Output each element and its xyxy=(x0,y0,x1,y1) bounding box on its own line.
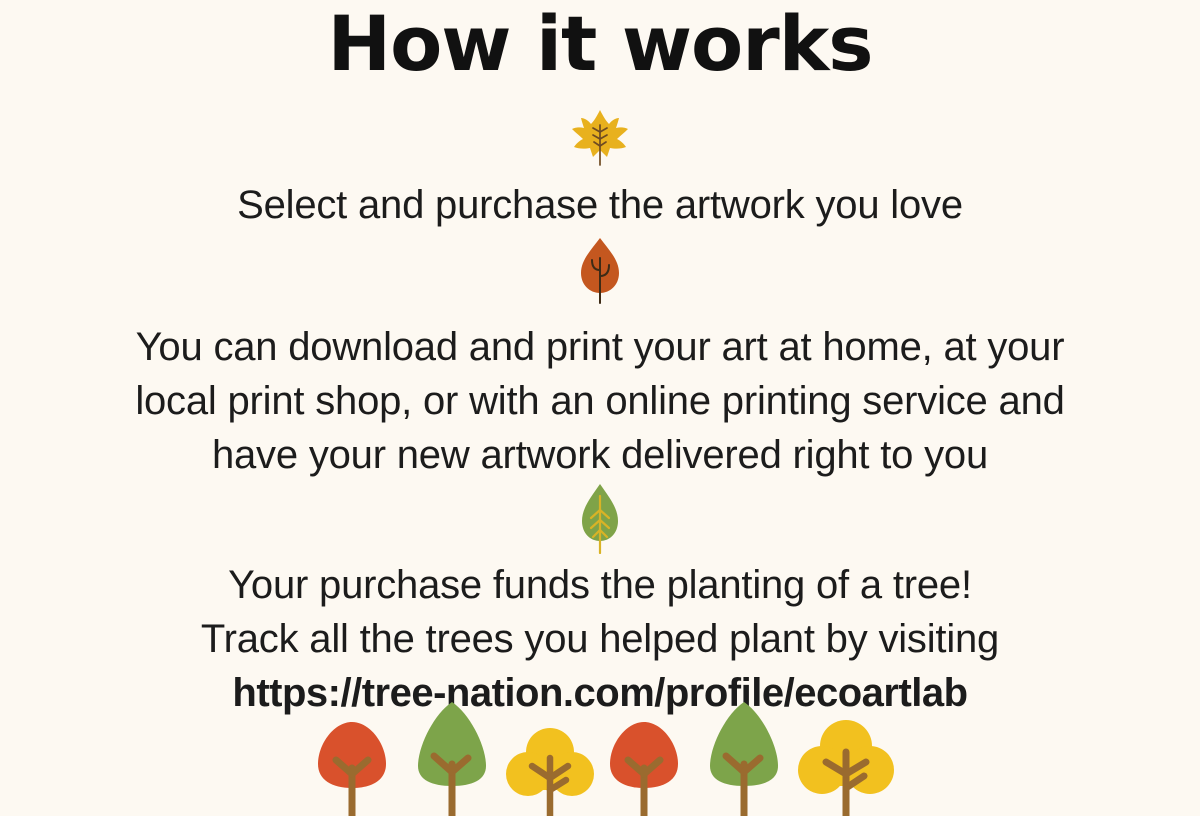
tree-green-tall xyxy=(400,698,504,816)
maple-leaf-divider xyxy=(0,108,1200,166)
tree-red-round-2 xyxy=(596,712,692,816)
step-print-line-3: have your new artwork delivered right to… xyxy=(0,428,1200,482)
orange-leaf-icon xyxy=(575,236,625,304)
step-select-line-1: Select and purchase the artwork you love xyxy=(0,178,1200,232)
step-print-text: You can download and print your art at h… xyxy=(0,320,1200,482)
green-leaf-icon xyxy=(576,482,624,554)
step-tree-text: Your purchase funds the planting of a tr… xyxy=(0,558,1200,720)
tree-green-tall-2 xyxy=(692,698,796,816)
maple-leaf-icon xyxy=(569,108,631,166)
green-leaf-divider xyxy=(0,482,1200,554)
tree-row-decoration xyxy=(0,706,1200,816)
page-title: How it works xyxy=(0,6,1200,82)
step-select-text: Select and purchase the artwork you love xyxy=(0,178,1200,232)
tree-yellow-lobed xyxy=(504,724,596,816)
step-tree-line-2: Track all the trees you helped plant by … xyxy=(0,612,1200,666)
how-it-works-graphic: How it works Select and purchase the art… xyxy=(0,0,1200,816)
tree-yellow-lobed-2 xyxy=(796,716,896,816)
step-print-line-2: local print shop, or with an online prin… xyxy=(0,374,1200,428)
orange-leaf-divider xyxy=(0,236,1200,304)
step-tree-line-1: Your purchase funds the planting of a tr… xyxy=(0,558,1200,612)
tree-red-round xyxy=(304,712,400,816)
step-print-line-1: You can download and print your art at h… xyxy=(0,320,1200,374)
